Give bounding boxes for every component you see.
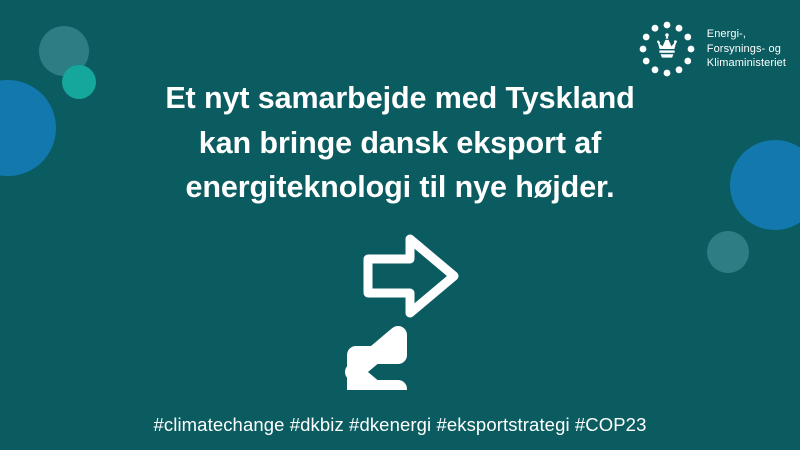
- headline-line-1: Et nyt samarbejde med Tyskland: [0, 76, 800, 121]
- arrow-right-outline-icon: [368, 239, 454, 313]
- exchange-arrows-graphic: [290, 225, 490, 390]
- crown-glyph: [657, 33, 677, 57]
- crown-with-dots-icon: [636, 18, 698, 80]
- headline-line-3: energiteknologi til nye højder.: [0, 165, 800, 210]
- headline-line-2: kan bringe dansk eksport af: [0, 121, 800, 166]
- ministry-logo-text: Energi-, Forsynings- og Klimaministeriet: [707, 27, 786, 71]
- hashtag-line: #climatechange #dkbiz #dkenergi #eksport…: [0, 414, 800, 436]
- headline: Et nyt samarbejde med Tyskland kan bring…: [0, 76, 800, 210]
- decorative-circle-teal-right: [707, 231, 749, 273]
- ministry-logo: Energi-, Forsynings- og Klimaministeriet: [636, 18, 786, 80]
- decorative-circle-teal-left: [39, 26, 89, 76]
- slide-canvas: Energi-, Forsynings- og Klimaministeriet…: [0, 0, 800, 450]
- arrow-left-solid-icon: [354, 335, 398, 390]
